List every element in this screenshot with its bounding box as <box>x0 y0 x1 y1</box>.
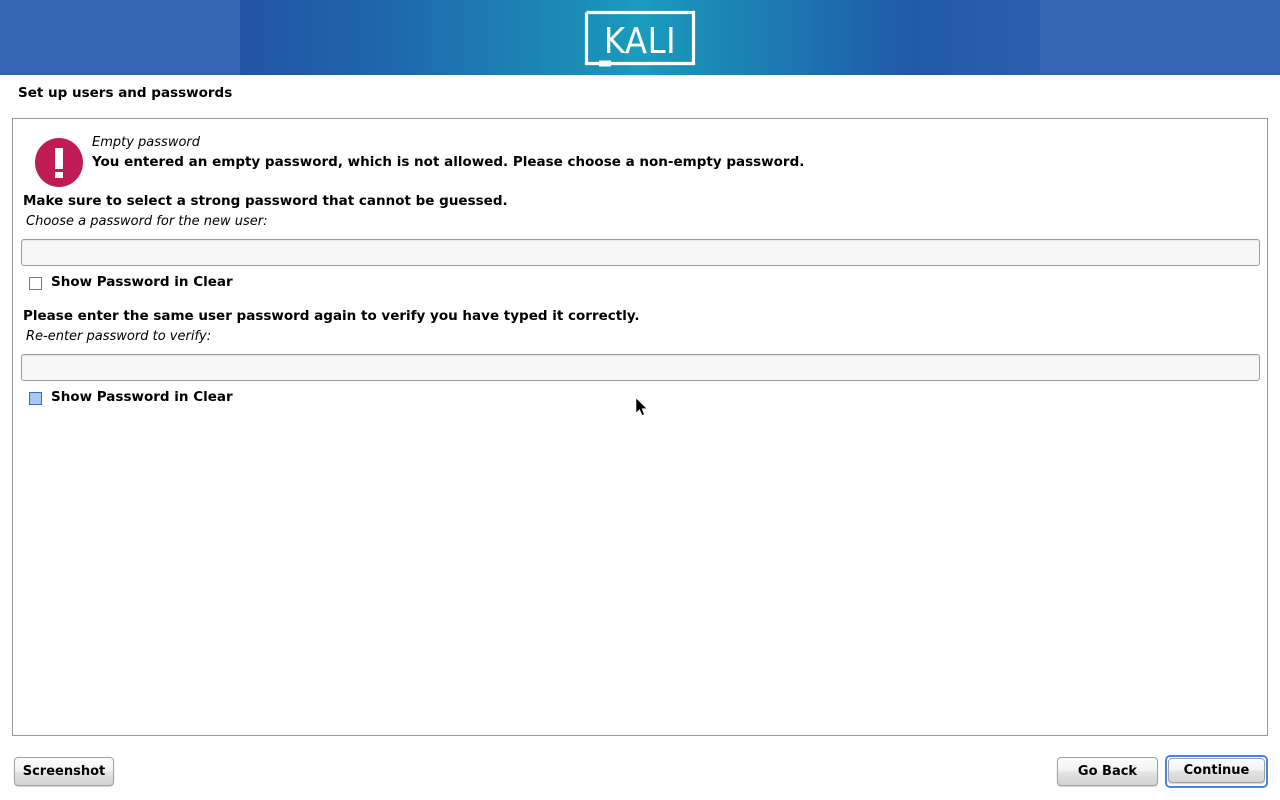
exclamation-dot <box>55 172 63 178</box>
verify-password-input[interactable] <box>21 354 1260 381</box>
verify-field-label: Re-enter password to verify: <box>26 329 211 344</box>
strong-password-note: Make sure to select a strong password th… <box>23 193 508 209</box>
show-password-checkbox-2[interactable] <box>29 392 42 405</box>
kali-banner: KALI <box>0 0 1280 75</box>
alert-title: Empty password <box>92 135 200 150</box>
alert-message: You entered an empty password, which is … <box>92 154 804 170</box>
main-panel: Empty password You entered an empty pass… <box>12 118 1268 736</box>
exclamation-bar <box>55 148 63 169</box>
verify-password-note: Please enter the same user password agai… <box>23 308 640 324</box>
error-exclamation-icon <box>35 138 83 187</box>
kali-logo-icon: KALI <box>583 9 697 67</box>
page-title: Set up users and passwords <box>18 85 232 101</box>
continue-button[interactable]: Continue <box>1168 758 1265 783</box>
password-field-label: Choose a password for the new user: <box>26 214 268 229</box>
password-input[interactable] <box>21 239 1260 266</box>
screenshot-button[interactable]: Screenshot <box>14 757 114 786</box>
show-password-label-2: Show Password in Clear <box>51 389 233 405</box>
svg-text:KALI: KALI <box>604 21 676 62</box>
show-password-label-1: Show Password in Clear <box>51 274 233 290</box>
installer-screen: KALI Set up users and passwords Empty pa… <box>0 0 1280 800</box>
go-back-button[interactable]: Go Back <box>1057 757 1158 786</box>
show-password-checkbox-1[interactable] <box>29 277 42 290</box>
continue-button-focus-ring: Continue <box>1165 755 1268 788</box>
